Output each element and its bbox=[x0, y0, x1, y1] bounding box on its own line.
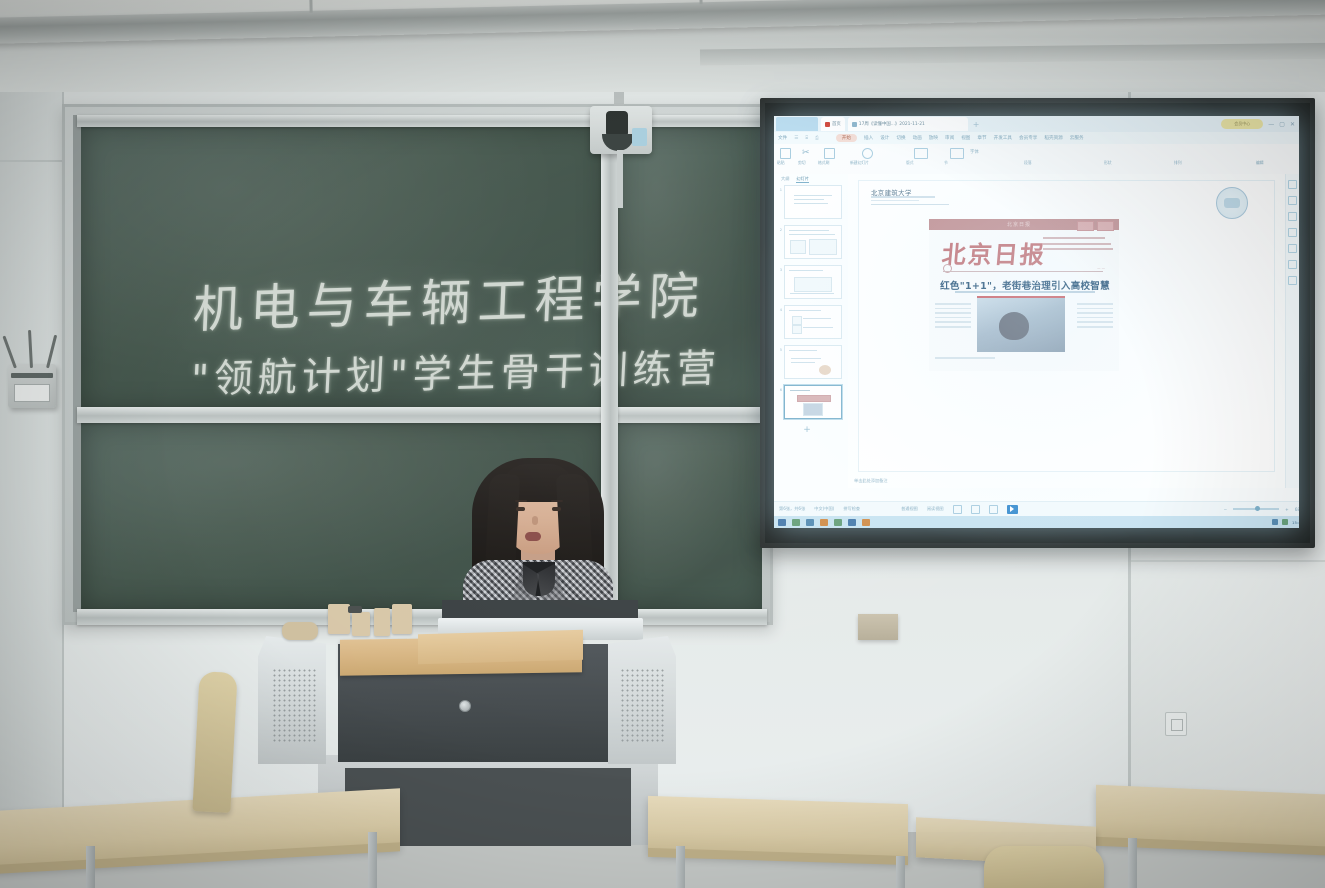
zoom-controls[interactable]: − + 68% bbox=[1224, 507, 1299, 512]
ceiling-camera bbox=[590, 106, 652, 154]
tray-volume-icon[interactable] bbox=[1282, 519, 1288, 525]
slide-panel-tabs[interactable]: 大纲 幻灯片 bbox=[776, 174, 849, 184]
ribbon-label-paragraph: 段落 bbox=[1024, 160, 1032, 166]
start-slideshow-button[interactable] bbox=[1007, 505, 1018, 514]
ceiling-conduit-pipe bbox=[0, 0, 1325, 44]
tray-network-icon[interactable] bbox=[1272, 519, 1278, 525]
slide-thumbnail-item[interactable]: 3 bbox=[776, 265, 846, 299]
wps-tab-label: 首页 bbox=[832, 121, 841, 127]
ribbon-label-shape: 形状 bbox=[1104, 160, 1112, 166]
media-pane-icon[interactable] bbox=[1288, 260, 1297, 269]
wps-status-bar[interactable]: 第6张，共6张 中文(中国) 拼写检查 普通视图 阅读视图 − + bbox=[774, 501, 1299, 516]
selection-pane-icon[interactable] bbox=[1288, 228, 1297, 237]
animation-pane-icon[interactable] bbox=[1288, 212, 1297, 221]
newspaper-date: — — bbox=[1097, 266, 1105, 270]
maximize-icon[interactable]: ▢ bbox=[1279, 121, 1285, 128]
desk-leg bbox=[368, 832, 377, 888]
desk-leg bbox=[896, 856, 905, 888]
paste-icon[interactable] bbox=[780, 148, 791, 159]
view-normal-icon[interactable] bbox=[953, 505, 962, 514]
newspaper-subheadline bbox=[955, 291, 1095, 293]
new-tab-button[interactable]: + bbox=[973, 120, 980, 129]
presenter-brow-left bbox=[515, 500, 527, 502]
camera-arm bbox=[617, 150, 623, 208]
ribbon-label-format-painter: 格式刷 bbox=[818, 160, 829, 166]
podium-lock-icon bbox=[459, 700, 471, 712]
membership-label: 会员中心 bbox=[1234, 121, 1250, 127]
wps-ribbon[interactable]: 粘贴 ✂ 剪切 格式刷 新建幻灯片 版式 节 字体 段落 形状 排列 编辑 bbox=[774, 144, 1299, 175]
panel-tab-outline[interactable]: 大纲 bbox=[781, 176, 789, 182]
browser-icon[interactable] bbox=[806, 519, 814, 526]
camera-badge bbox=[632, 128, 647, 146]
chalk-tray-bracket bbox=[858, 614, 898, 640]
slide-number: 4 bbox=[776, 305, 782, 312]
chair-left bbox=[192, 671, 237, 813]
slide-thumbnail-item[interactable]: 1 bbox=[776, 185, 846, 219]
wps-office-window[interactable]: 首页 17周《读懂中国...》2021-11-21 + 会员中心 — ▢ ✕ bbox=[774, 116, 1299, 528]
blackboard: 机电与车辆工程学院 "领航计划"学生骨干训练营 bbox=[62, 104, 773, 625]
wps-home-tab[interactable] bbox=[776, 117, 818, 131]
ribbon-tab-devtools[interactable]: 开发工具 bbox=[994, 135, 1012, 141]
newspaper-headline: 红色"1+1"，老街巷治理引入高校智慧 bbox=[939, 278, 1111, 292]
wireless-access-point bbox=[8, 364, 56, 408]
ribbon-label-edit: 编辑 bbox=[1256, 160, 1264, 166]
podium-speaker-left bbox=[258, 636, 326, 764]
newspaper-photo bbox=[977, 298, 1065, 352]
wps-doc-tab-2[interactable]: 17周《读懂中国...》2021-11-21 bbox=[848, 117, 968, 131]
slide-thumbnail[interactable] bbox=[784, 225, 842, 259]
newspaper-rule bbox=[943, 271, 1103, 272]
chair-right bbox=[984, 846, 1104, 888]
ceiling bbox=[0, 0, 1325, 98]
power-outlet bbox=[1165, 712, 1187, 736]
classroom-photo-scene: 机电与车辆工程学院 "领航计划"学生骨干训练营 首页 bbox=[0, 0, 1325, 888]
ribbon-tab-member[interactable]: 会员专享 bbox=[1019, 135, 1037, 141]
copy-icon[interactable] bbox=[824, 148, 835, 159]
desk-leg bbox=[86, 846, 95, 888]
ppt-taskbar-icon[interactable] bbox=[862, 519, 870, 526]
ribbon-tab-slideshow[interactable]: 放映 bbox=[929, 135, 938, 141]
blackboard-panel-bottom-right bbox=[615, 421, 762, 609]
camera-dome bbox=[602, 134, 634, 151]
ribbon-tab-file[interactable]: 文件 bbox=[778, 135, 787, 141]
newspaper-column-right bbox=[1077, 303, 1113, 331]
shapes-pane-icon[interactable] bbox=[1288, 244, 1297, 253]
wps-document-tab-label: 17周《读懂中国...》2021-11-21 bbox=[859, 121, 925, 127]
start-menu-icon[interactable] bbox=[778, 519, 786, 526]
status-spellcheck[interactable]: 拼写检查 bbox=[843, 506, 860, 512]
wps-titlebar: 首页 17周《读懂中国...》2021-11-21 + 会员中心 — ▢ ✕ bbox=[774, 116, 1299, 132]
slide-thumbnail-item[interactable]: 5 bbox=[776, 345, 846, 379]
section-icon[interactable] bbox=[950, 148, 964, 159]
podium-item-box-4 bbox=[392, 604, 412, 634]
panel-tab-slides[interactable]: 幻灯片 bbox=[796, 176, 809, 183]
wall-seam-right bbox=[1130, 560, 1325, 562]
desk-leg bbox=[1128, 838, 1137, 888]
speaker-grille-icon bbox=[620, 668, 664, 744]
current-slide[interactable]: 北京建筑大学 北京日报 bbox=[858, 180, 1275, 472]
podium-speaker-right bbox=[608, 636, 676, 764]
left-wall-panel bbox=[0, 92, 64, 832]
ribbon-tab-cloud[interactable]: 云服务 bbox=[1070, 135, 1084, 141]
presenter-mouth bbox=[525, 532, 541, 541]
view-reading-icon[interactable] bbox=[989, 505, 998, 514]
wall-seam-left bbox=[0, 160, 62, 162]
blackboard-rail-bottom bbox=[77, 609, 767, 625]
membership-button[interactable]: 会员中心 bbox=[1221, 119, 1263, 129]
ribbon-label-cut: 剪切 bbox=[798, 160, 806, 166]
blackboard-rail-horizontal bbox=[77, 407, 767, 423]
wps-app-icon bbox=[825, 122, 830, 127]
slide-number: 6 bbox=[776, 385, 782, 392]
slide-thumbnail-list[interactable]: 1 2 bbox=[776, 185, 846, 488]
ribbon-tab-review[interactable]: 审阅 bbox=[945, 135, 954, 141]
close-icon[interactable]: ✕ bbox=[1290, 121, 1295, 128]
podium-item-round bbox=[282, 622, 318, 640]
ribbon-tab-insert[interactable]: 插入 bbox=[864, 135, 873, 141]
zoom-out-icon[interactable]: − bbox=[1224, 507, 1228, 512]
wps-taskbar-icon[interactable] bbox=[820, 519, 828, 526]
podium-wood-surface-rear bbox=[418, 630, 583, 665]
wechat-icon[interactable] bbox=[834, 519, 842, 526]
ribbon-tab-transition[interactable]: 切换 bbox=[896, 135, 905, 141]
router-led-strip bbox=[11, 373, 53, 378]
zoom-in-icon[interactable]: + bbox=[1285, 507, 1289, 512]
podium-item-dark bbox=[348, 606, 362, 613]
blackboard-inner: 机电与车辆工程学院 "领航计划"学生骨干训练营 bbox=[73, 115, 762, 612]
slide-thumbnail-item-selected[interactable]: 6 bbox=[776, 385, 846, 419]
wps-workspace: 大纲 幻灯片 1 2 bbox=[774, 174, 1299, 502]
zoom-slider[interactable] bbox=[1233, 508, 1279, 510]
ribbon-label-paste: 粘贴 bbox=[777, 160, 785, 166]
blackboard-text-line2: "领航计划"学生骨干训练营 bbox=[190, 337, 723, 404]
ribbon-label-arrange: 排列 bbox=[1174, 160, 1182, 166]
newspaper-column-bottom bbox=[935, 357, 971, 362]
window-controls: 会员中心 — ▢ ✕ bbox=[1221, 119, 1299, 129]
ribbon-tab-animation[interactable]: 动画 bbox=[913, 135, 922, 141]
format-pane-icon[interactable] bbox=[1288, 196, 1297, 205]
new-slide-icon[interactable] bbox=[862, 148, 873, 159]
status-view-normal[interactable]: 普通视图 bbox=[901, 506, 918, 512]
projected-screen[interactable]: 首页 17周《读懂中国...》2021-11-21 + 会员中心 — ▢ ✕ bbox=[774, 116, 1299, 528]
outlet-socket bbox=[1171, 719, 1183, 731]
photo-subject bbox=[999, 312, 1029, 340]
slide-thumbnail-item[interactable]: 2 bbox=[776, 225, 846, 259]
ribbon-label-font: 字体 bbox=[970, 149, 979, 155]
podium-item-box-3 bbox=[374, 608, 390, 636]
status-language[interactable]: 中文(中国) bbox=[814, 506, 834, 512]
newspaper-side-teasers bbox=[1043, 237, 1113, 254]
ceiling-conduit-pipe-secondary bbox=[700, 43, 1325, 66]
slide-thumbnail[interactable] bbox=[784, 265, 842, 299]
slide-number: 2 bbox=[776, 225, 782, 232]
ribbon-tab-view[interactable]: 视图 bbox=[961, 135, 970, 141]
university-seal-logo bbox=[1216, 187, 1248, 219]
newspaper-masthead-title: 北京日报 bbox=[940, 235, 1047, 270]
seal-inner-mark bbox=[1224, 198, 1240, 208]
ribbon-tab-section[interactable]: 章节 bbox=[977, 135, 986, 141]
masthead-box-1 bbox=[1077, 221, 1094, 231]
taskbar-clock[interactable]: 15:42 bbox=[1292, 520, 1299, 525]
slide-university-subtitle-en bbox=[871, 196, 935, 198]
layout-icon[interactable] bbox=[914, 148, 928, 159]
cut-icon[interactable]: ✂ bbox=[802, 148, 811, 157]
status-view-reading[interactable]: 阅读视图 bbox=[927, 506, 944, 512]
presenter-eye-right bbox=[552, 507, 561, 511]
slide-notes-placeholder[interactable]: 单击此处添加备注 bbox=[854, 478, 888, 484]
ribbon-tab-docer[interactable]: 稻壳资源 bbox=[1044, 135, 1062, 141]
windows-taskbar[interactable]: 15:42 bbox=[774, 516, 1299, 528]
newspaper-column-left bbox=[935, 303, 971, 331]
newspaper-band-title: 北京日报 bbox=[1007, 221, 1031, 228]
masthead-box-2 bbox=[1097, 221, 1114, 231]
newspaper-clipping: 北京日报 北京日报 bbox=[929, 219, 1119, 371]
explorer-icon[interactable] bbox=[792, 519, 800, 526]
right-side-toolbar[interactable] bbox=[1285, 174, 1299, 488]
ribbon-tab-design[interactable]: 设计 bbox=[880, 135, 889, 141]
speaker-grille-icon bbox=[272, 668, 316, 744]
ribbon-tab-home[interactable]: 开始 bbox=[836, 134, 857, 142]
ribbon-label-layout: 版式 bbox=[906, 160, 914, 166]
slide-number: 5 bbox=[776, 345, 782, 352]
blackboard-rail-top bbox=[77, 115, 767, 127]
slide-thumbnail-current[interactable] bbox=[784, 385, 842, 419]
slide-thumbnail[interactable] bbox=[784, 185, 842, 219]
ribbon-label-new-slide: 新建幻灯片 bbox=[850, 160, 869, 166]
slide-thumbnail-item[interactable]: 4 bbox=[776, 305, 846, 339]
slide-thumbnail[interactable] bbox=[784, 305, 842, 339]
slide-university-subtitle-en2 bbox=[871, 200, 919, 202]
wps-doc-tab-1[interactable]: 首页 bbox=[821, 117, 845, 131]
slide-canvas-area[interactable]: 北京建筑大学 北京日报 bbox=[848, 174, 1285, 488]
router-label bbox=[14, 384, 50, 402]
presenter-brow-right bbox=[551, 500, 563, 502]
slide-header-rule bbox=[871, 204, 949, 205]
podium-item-box-1 bbox=[328, 604, 350, 634]
ribbon-label-section: 节 bbox=[944, 160, 948, 166]
zoom-level-label[interactable]: 68% bbox=[1295, 507, 1299, 512]
desk-leg bbox=[676, 846, 685, 888]
podium-item-box-2 bbox=[352, 612, 370, 636]
minimize-icon[interactable]: — bbox=[1268, 121, 1274, 128]
wps-ribbon-tab-strip[interactable]: 文件 ☰ ⌸ ⎙ 开始 插入 设计 切换 动画 放映 审阅 视图 章节 开发工具… bbox=[774, 132, 1299, 144]
ppt-file-icon bbox=[852, 122, 857, 127]
projection-screen-frame: 首页 17周《读懂中国...》2021-11-21 + 会员中心 — ▢ ✕ bbox=[760, 98, 1315, 548]
blackboard-text-line1: 机电与车辆工程学院 bbox=[192, 256, 708, 342]
qq-icon[interactable] bbox=[848, 519, 856, 526]
slide-number: 1 bbox=[776, 185, 782, 192]
zoom-slider-knob[interactable] bbox=[1255, 506, 1260, 511]
status-slide-count: 第6张，共6张 bbox=[779, 506, 805, 512]
slide-thumbnail[interactable] bbox=[784, 345, 842, 379]
add-slide-button[interactable]: + bbox=[776, 425, 838, 435]
presenter-eye-left bbox=[516, 507, 525, 511]
design-ideas-icon[interactable] bbox=[1288, 180, 1297, 189]
view-sorter-icon[interactable] bbox=[971, 505, 980, 514]
slide-number: 3 bbox=[776, 265, 782, 272]
cloud-pane-icon[interactable] bbox=[1288, 276, 1297, 285]
taskbar-tray[interactable]: 15:42 bbox=[1272, 519, 1299, 525]
presenter-nose bbox=[532, 516, 538, 525]
